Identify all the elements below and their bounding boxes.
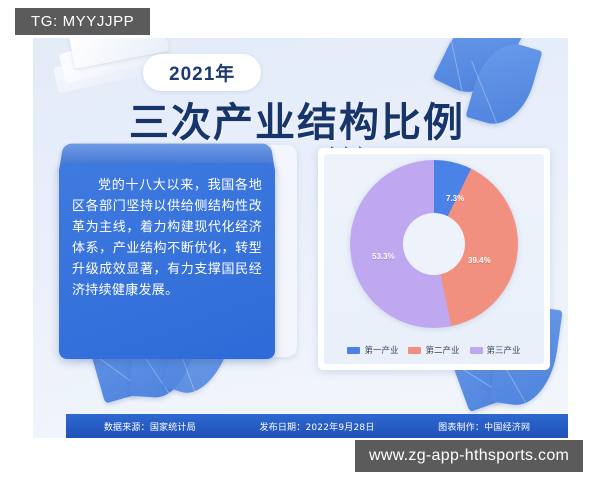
page-title: 三次产业结构比例 bbox=[129, 90, 465, 148]
legend-item-1[interactable]: 第一产业 bbox=[347, 344, 398, 356]
chart-card: 7.3% 39.4% 53.3% 第一产业第二产业第三产业 bbox=[318, 148, 550, 370]
watermark-top: TG: MYYJJPP bbox=[15, 8, 150, 35]
legend-label: 第一产业 bbox=[364, 344, 398, 356]
legend-item-2[interactable]: 第二产业 bbox=[408, 344, 459, 356]
infographic-canvas: 2021年 三次产业结构比例 党的十八大以来，我国各地区各部门坚持以供给侧结构性… bbox=[33, 38, 568, 438]
legend-item-3[interactable]: 第三产业 bbox=[470, 344, 521, 356]
publish-date-label: 发布日期：2022年9月28日 bbox=[259, 420, 374, 433]
donut-ring bbox=[350, 160, 518, 328]
donut-hole bbox=[403, 213, 465, 275]
legend-swatch-icon bbox=[408, 347, 421, 354]
chart-legend: 第一产业第二产业第三产业 bbox=[324, 344, 544, 356]
legend-label: 第三产业 bbox=[487, 344, 521, 356]
year-badge: 2021年 bbox=[143, 54, 261, 91]
legend-swatch-icon bbox=[470, 347, 483, 354]
slice-label-2: 39.4% bbox=[468, 256, 491, 265]
footer-bar: 数据来源：国家统计局 发布日期：2022年9月28日 图表制作：中国经济网 bbox=[66, 414, 568, 438]
chart-area: 7.3% 39.4% 53.3% 第一产业第二产业第三产业 bbox=[324, 154, 544, 364]
legend-label: 第二产业 bbox=[425, 344, 459, 356]
legend-swatch-icon bbox=[347, 347, 360, 354]
producer-label: 图表制作：中国经济网 bbox=[438, 420, 530, 433]
watermark-bottom: www.zg-app-hthsports.com bbox=[355, 440, 583, 472]
data-source-label: 数据来源：国家统计局 bbox=[104, 420, 196, 433]
text-card: 党的十八大以来，我国各地区各部门坚持以供给侧结构性改革为主线，着力构建现代化经济… bbox=[55, 141, 297, 361]
card-paragraph: 党的十八大以来，我国各地区各部门坚持以供给侧结构性改革为主线，着力构建现代化经济… bbox=[72, 175, 262, 301]
slice-label-1: 7.3% bbox=[446, 194, 464, 203]
donut-chart: 7.3% 39.4% 53.3% bbox=[350, 160, 518, 328]
card-body: 党的十八大以来，我国各地区各部门坚持以供给侧结构性改革为主线，着力构建现代化经济… bbox=[59, 163, 275, 359]
slice-label-3: 53.3% bbox=[372, 252, 395, 261]
